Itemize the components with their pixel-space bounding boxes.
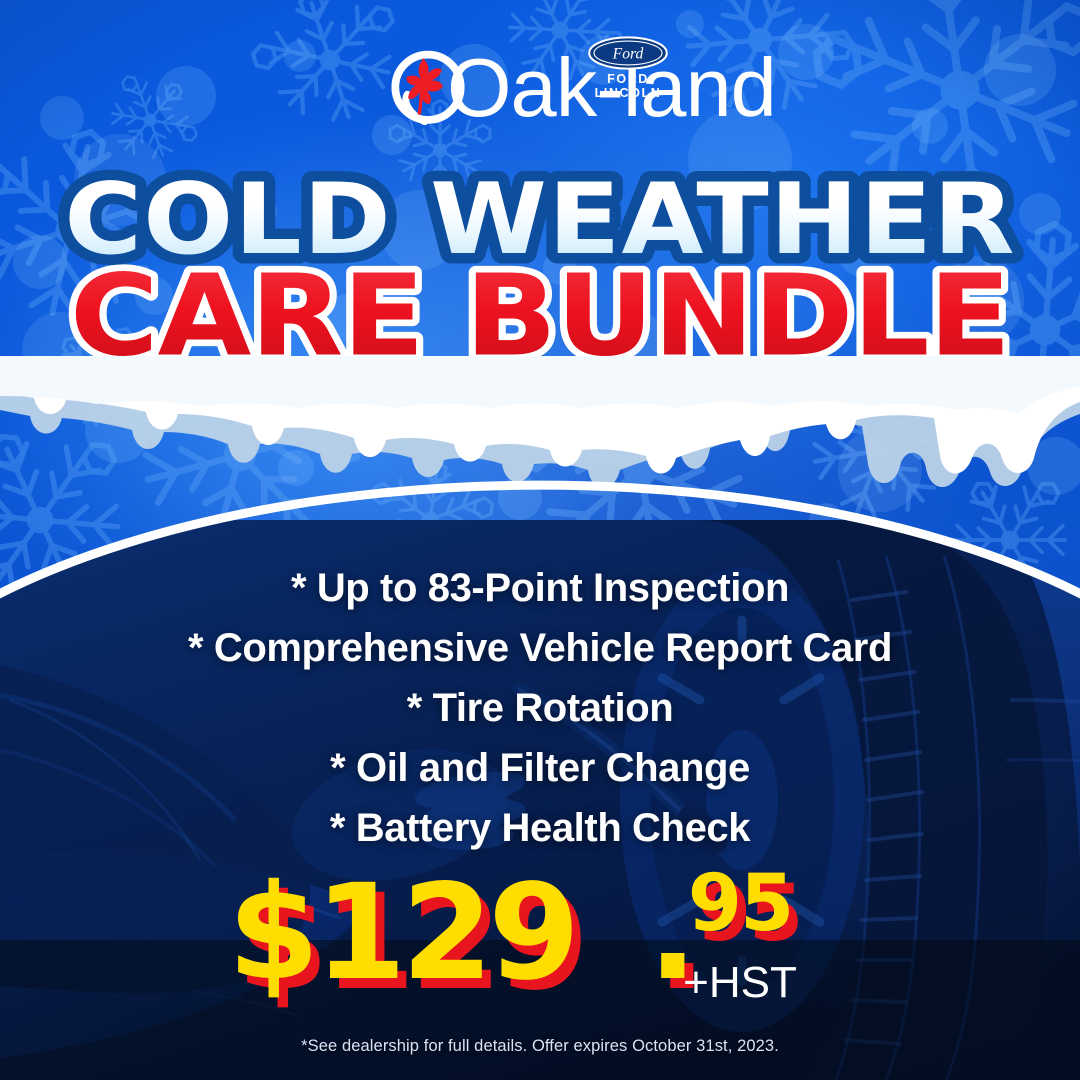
list-item: * Battery Health Check — [0, 806, 1080, 850]
price-graphic: $129 . 95 $129 . 95 +HST — [190, 862, 890, 1012]
svg-text:$129: $129 — [228, 862, 575, 1010]
list-item: * Comprehensive Vehicle Report Card — [0, 626, 1080, 670]
service-list: * Up to 83-Point Inspection * Comprehens… — [0, 566, 1080, 850]
price-block: $129 . 95 $129 . 95 +HST — [0, 862, 1080, 1012]
fine-print: *See dealership for full details. Offer … — [0, 1037, 1080, 1056]
list-item: * Up to 83-Point Inspection — [0, 566, 1080, 610]
list-item: * Oil and Filter Change — [0, 746, 1080, 790]
list-item: * Tire Rotation — [0, 686, 1080, 730]
tax-note: +HST — [683, 958, 797, 1007]
promo-poster: Oak-land Ford FORD LINCOLN — [0, 0, 1080, 1080]
svg-text:95: 95 — [688, 862, 793, 949]
